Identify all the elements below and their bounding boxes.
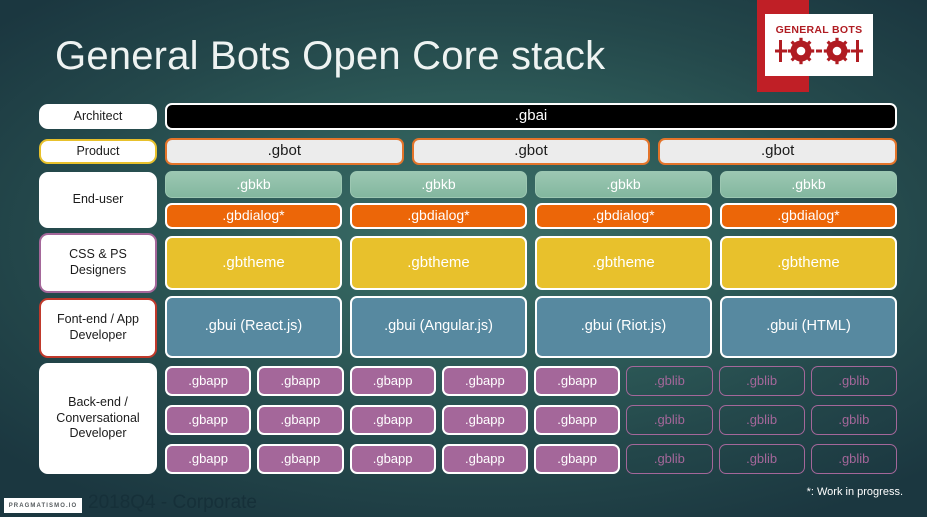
stack-box-gbui-angular[interactable]: .gbui (Angular.js) xyxy=(350,296,527,358)
stack-box-gbapp-r3c1[interactable]: .gbapp xyxy=(165,444,251,474)
stack-box-gbot-2[interactable]: .gbot xyxy=(412,138,651,165)
stack-box-gbai[interactable]: .gbai xyxy=(165,103,897,130)
stack-box-gbapp-r1c2[interactable]: .gbapp xyxy=(257,366,343,396)
stack-box-gbapp-r1c3[interactable]: .gbapp xyxy=(350,366,436,396)
stack-box-gbot-1[interactable]: .gbot xyxy=(165,138,404,165)
page-title: General Bots Open Core stack xyxy=(55,34,605,79)
stack-box-gbtheme-2[interactable]: .gbtheme xyxy=(350,236,527,290)
stack-box-gbui-react[interactable]: .gbui (React.js) xyxy=(165,296,342,358)
stack-box-gblib-r2c1[interactable]: .gblib xyxy=(626,405,712,435)
stack-box-gbapp-r2c4[interactable]: .gbapp xyxy=(442,405,528,435)
stack-box-gbui-html[interactable]: .gbui (HTML) xyxy=(720,296,897,358)
stack-box-gblib-r1c1[interactable]: .gblib xyxy=(626,366,712,396)
work-in-progress-note: *: Work in progress. xyxy=(807,486,903,498)
logo-brand-text: GENERAL BOTS xyxy=(776,25,863,36)
stack-box-gblib-r2c2[interactable]: .gblib xyxy=(719,405,805,435)
stack-box-gblib-r2c3[interactable]: .gblib xyxy=(811,405,897,435)
stack-box-gbapp-r3c4[interactable]: .gbapp xyxy=(442,444,528,474)
role-label-product: Product xyxy=(39,139,157,164)
stack-box-gbdialog-4[interactable]: .gbdialog* xyxy=(720,203,897,229)
stack-box-gbkb-3[interactable]: .gbkb xyxy=(535,171,712,198)
role-label-end-user: End-user xyxy=(39,172,157,228)
stack-box-gblib-r1c2[interactable]: .gblib xyxy=(719,366,805,396)
stack-box-gblib-r1c3[interactable]: .gblib xyxy=(811,366,897,396)
pragmatismo-logo: PRAGMATISMO.IO xyxy=(4,498,82,513)
slide-canvas: General Bots Open Core stack GENERAL BOT… xyxy=(0,0,927,517)
stack-box-gbtheme-3[interactable]: .gbtheme xyxy=(535,236,712,290)
role-label-back-end: Back-end /ConversationalDeveloper xyxy=(39,363,157,474)
pragmatismo-logo-text: PRAGMATISMO.IO xyxy=(9,503,78,509)
stack-box-gbkb-1[interactable]: .gbkb xyxy=(165,171,342,198)
stack-box-gbapp-r3c5[interactable]: .gbapp xyxy=(534,444,620,474)
stack-box-gbdialog-1[interactable]: .gbdialog* xyxy=(165,203,342,229)
stack-box-gbapp-r1c5[interactable]: .gbapp xyxy=(534,366,620,396)
stack-box-gbapp-r2c1[interactable]: .gbapp xyxy=(165,405,251,435)
stack-box-gbapp-r3c2[interactable]: .gbapp xyxy=(257,444,343,474)
role-label-architect: Architect xyxy=(39,104,157,129)
stack-box-gbapp-r1c1[interactable]: .gbapp xyxy=(165,366,251,396)
stack-box-gbapp-r2c3[interactable]: .gbapp xyxy=(350,405,436,435)
stack-box-gbdialog-2[interactable]: .gbdialog* xyxy=(350,203,527,229)
stack-box-gbapp-r3c3[interactable]: .gbapp xyxy=(350,444,436,474)
stack-box-gbapp-r2c5[interactable]: .gbapp xyxy=(534,405,620,435)
stack-box-gblib-r3c3[interactable]: .gblib xyxy=(811,444,897,474)
stack-box-gbtheme-4[interactable]: .gbtheme xyxy=(720,236,897,290)
stack-box-gblib-r3c1[interactable]: .gblib xyxy=(626,444,712,474)
stack-box-gbkb-2[interactable]: .gbkb xyxy=(350,171,527,198)
two-gears-icon xyxy=(775,37,863,65)
logo-card: GENERAL BOTS xyxy=(765,14,873,76)
stack-box-gbot-3[interactable]: .gbot xyxy=(658,138,897,165)
stack-box-gbapp-r2c2[interactable]: .gbapp xyxy=(257,405,343,435)
general-bots-logo: GENERAL BOTS xyxy=(757,0,809,92)
role-label-font-end-app: Font-end / AppDeveloper xyxy=(39,298,157,358)
footer-caption: 2018Q4 - Corporate xyxy=(88,492,257,514)
stack-box-gbkb-4[interactable]: .gbkb xyxy=(720,171,897,198)
stack-box-gblib-r3c2[interactable]: .gblib xyxy=(719,444,805,474)
role-label-css-ps: CSS & PSDesigners xyxy=(39,233,157,293)
stack-box-gbdialog-3[interactable]: .gbdialog* xyxy=(535,203,712,229)
stack-box-gbapp-r1c4[interactable]: .gbapp xyxy=(442,366,528,396)
stack-box-gbtheme-1[interactable]: .gbtheme xyxy=(165,236,342,290)
stack-box-gbui-riot[interactable]: .gbui (Riot.js) xyxy=(535,296,712,358)
